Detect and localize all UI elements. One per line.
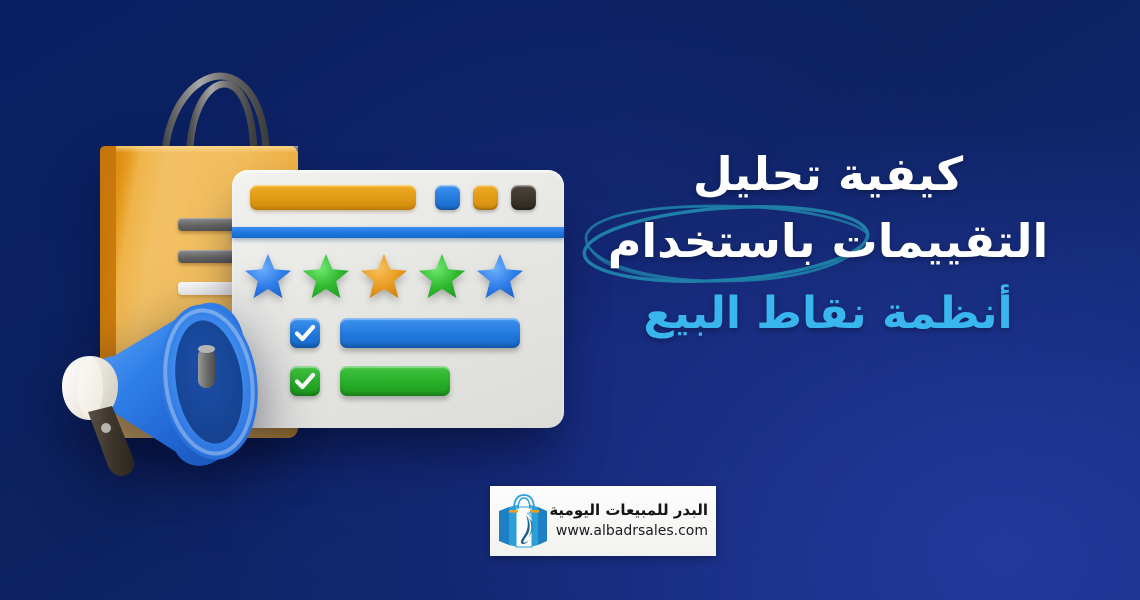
promo-banner: كيفية تحليل التقييمات باستخدام أنظمة نقا… bbox=[0, 0, 1140, 600]
headline-line-2-wrapper: التقييمات باستخدام bbox=[568, 209, 1088, 279]
headline-line-2: التقييمات باستخدام bbox=[568, 209, 1088, 266]
content-bar-blue[interactable] bbox=[340, 318, 520, 348]
card-title-bar bbox=[232, 170, 564, 223]
window-button-blue[interactable] bbox=[435, 185, 460, 210]
megaphone-icon bbox=[48, 282, 310, 492]
headline-line-3: أنظمة نقاط البيع bbox=[568, 291, 1088, 338]
logo-text-block: البدر للمبيعات اليومية www.albadrsales.c… bbox=[549, 500, 708, 542]
headline-line-1: كيفية تحليل bbox=[568, 150, 1088, 199]
star-icon-4[interactable] bbox=[418, 252, 466, 300]
window-button-dark[interactable] bbox=[511, 185, 536, 210]
window-button-amber[interactable] bbox=[473, 185, 498, 210]
url-bar[interactable] bbox=[250, 185, 416, 210]
card-divider bbox=[232, 227, 564, 238]
star-icon-3[interactable] bbox=[360, 252, 408, 300]
brand-logo[interactable]: البدر للمبيعات اليومية www.albadrsales.c… bbox=[490, 486, 716, 556]
logo-brand-name: البدر للمبيعات اليومية bbox=[549, 500, 708, 520]
headline-block: كيفية تحليل التقييمات باستخدام أنظمة نقا… bbox=[568, 150, 1088, 337]
logo-website-url: www.albadrsales.com bbox=[549, 522, 708, 542]
shopping-bag-icon bbox=[497, 493, 549, 549]
content-bar-green[interactable] bbox=[340, 366, 450, 396]
star-icon-5[interactable] bbox=[476, 252, 524, 300]
